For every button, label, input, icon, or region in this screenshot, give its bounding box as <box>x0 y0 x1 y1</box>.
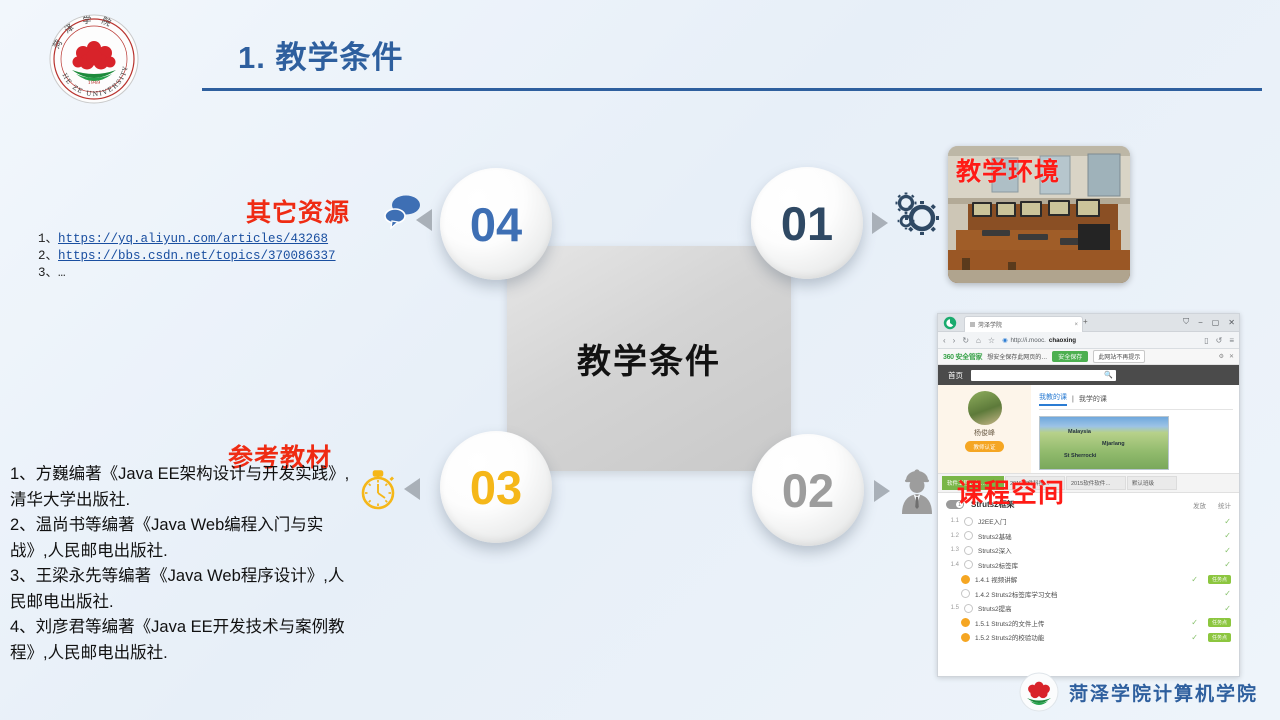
task-point-tag: 任务点 <box>1208 633 1231 642</box>
resource-link[interactable]: https://bbs.csdn.net/topics/370086337 <box>58 249 336 263</box>
security-save-button[interactable]: 安全保存 <box>1052 351 1088 362</box>
textbooks-list: 1、方巍编著《Java EE架构设计与开发实践》,清华大学出版社. 2、温尚书等… <box>10 462 350 666</box>
check-icon: ✓ <box>1191 633 1198 642</box>
footer-seal-icon <box>1018 671 1060 713</box>
user-badge: 教师认证 <box>965 441 1003 452</box>
center-panel-label: 教学条件 <box>507 246 791 471</box>
outline-no: 1.2 <box>946 533 959 539</box>
maximize-icon[interactable]: ▢ <box>1212 318 1220 327</box>
map-label: Malaysia <box>1068 429 1091 435</box>
outline-label: 1.4.1 视频讲解 <box>975 574 1017 584</box>
page-title: 1. 教学条件 <box>238 32 403 77</box>
outline-no: 1.1 <box>946 518 959 524</box>
course-tabs-panel: 我教的课 | 我学的课 Malaysia Mjarlang St Sherroc… <box>1031 385 1239 473</box>
security-notification-bar: 360 安全管家 想安全保存此网页的… 安全保存 此网站不再提示 ⚙ ✕ <box>938 349 1239 365</box>
outline-row[interactable]: 1.5 Struts2提高 ✓ <box>946 601 1231 616</box>
resource-index: 2、 <box>38 249 58 263</box>
outline-label: Struts2提高 <box>978 603 1012 613</box>
resource-item: 1、https://yq.aliyun.com/articles/43268 <box>38 231 383 248</box>
search-icon[interactable]: 🔍 <box>1104 371 1113 379</box>
window-controls: ⛉ − ▢ ✕ <box>1183 317 1235 327</box>
class-chip[interactable]: 默认班级 <box>1127 476 1177 490</box>
arrow-left-icon-03 <box>404 478 420 500</box>
outline-no: 1.5 <box>946 605 959 611</box>
task-point-tag: 任务点 <box>1208 575 1231 584</box>
gears-icon <box>893 190 941 238</box>
resource-item: 2、https://bbs.csdn.net/topics/370086337 <box>38 248 383 265</box>
browser-tab[interactable]: 菏泽学院 × <box>964 316 1083 332</box>
outline-status-dot <box>964 517 973 526</box>
person-icon <box>896 466 938 514</box>
resource-index: 1、 <box>38 232 58 246</box>
resource-link[interactable]: https://yq.aliyun.com/articles/43268 <box>58 232 328 246</box>
site-search-input[interactable]: 🔍 <box>971 370 1116 381</box>
browser-nav-bar: ‹ › ↻ ⌂ ☆ ◉ http://i.mooc.chaoxing ▯ ↺ ≡ <box>938 332 1239 349</box>
check-icon: ✓ <box>1224 546 1231 555</box>
resources-list: 1、https://yq.aliyun.com/articles/43268 2… <box>38 231 383 282</box>
outline-status-dot <box>961 575 970 584</box>
browser-tab-bar: 菏泽学院 × + ⛉ − ▢ ✕ <box>938 314 1239 332</box>
map-label: Mjarlang <box>1102 441 1125 447</box>
outline-row[interactable]: 1.4 Struts2标签库 ✓ <box>946 558 1231 573</box>
footer-brand: 菏泽学院计算机学院 <box>1018 671 1258 713</box>
node-circle-03[interactable]: 03 <box>440 431 552 543</box>
browser-logo-icon <box>941 315 960 330</box>
close-icon[interactable]: × <box>1074 322 1078 328</box>
title-underline <box>202 88 1262 91</box>
check-icon: ✓ <box>1191 618 1198 627</box>
address-bar[interactable]: ◉ http://i.mooc.chaoxing <box>1002 337 1197 344</box>
check-icon: ✓ <box>1191 575 1198 584</box>
outline-status-dot <box>961 589 970 598</box>
outline-row[interactable]: 1.1 J2EE入门 ✓ <box>946 514 1231 529</box>
bookmark-star-icon[interactable]: ☆ <box>988 336 995 345</box>
resource-item: 3、… <box>38 265 383 282</box>
outline-label: Struts2标签库 <box>978 560 1018 570</box>
security-brand-label: 360 安全管家 <box>943 352 982 362</box>
check-icon: ✓ <box>1224 531 1231 540</box>
column-stats: 统计 <box>1218 500 1231 510</box>
gear-icon[interactable]: ⚙ <box>1219 353 1224 360</box>
course-cover-map-image: Malaysia Mjarlang St Sherrocki <box>1039 416 1169 470</box>
textbook-item: 3、王梁永先等编著《Java Web程序设计》,人民邮电出版社. <box>10 564 350 615</box>
outline-label: Struts2基础 <box>978 531 1012 541</box>
reader-icon[interactable]: ▯ <box>1204 336 1208 345</box>
course-outline: 1 Struts2框架 发放 统计 1.1 J2EE入门 ✓ 1.2 Strut… <box>938 493 1239 645</box>
lab-photo-caption: 教学环境 <box>956 152 1060 188</box>
outline-label: 1.5.2 Struts2的校验功能 <box>975 632 1044 642</box>
security-message: 想安全保存此网页的… <box>987 352 1047 361</box>
outline-row[interactable]: 1.5.2 Struts2的校验功能 ✓ 任务点 <box>946 630 1231 645</box>
arrow-right-icon-01 <box>872 212 888 234</box>
user-panel: 杨俊峰 教师认证 <box>938 385 1031 473</box>
outline-status-dot <box>964 546 973 555</box>
browser-tab-title: 菏泽学院 <box>978 320 1002 329</box>
course-tabs: 我教的课 | 我学的课 <box>1039 392 1233 410</box>
globe-icon: ◉ <box>1002 337 1007 344</box>
outline-status-dot <box>964 604 973 613</box>
home-icon[interactable]: ⌂ <box>976 336 981 345</box>
tab-teaching[interactable]: 我教的课 <box>1039 392 1067 406</box>
site-body: 杨俊峰 教师认证 我教的课 | 我学的课 Malaysia Mjarlang S… <box>938 385 1239 473</box>
outline-status-dot <box>964 531 973 540</box>
outline-row[interactable]: 1.2 Struts2基础 ✓ <box>946 529 1231 544</box>
outline-label: Struts2深入 <box>978 545 1012 555</box>
check-icon: ✓ <box>1224 517 1231 526</box>
shield-icon[interactable]: ⛉ <box>1183 317 1189 327</box>
resources-heading: 其它资源 <box>246 193 350 229</box>
textbook-item: 4、刘彦君等编著《Java EE开发技术与案例教程》,人民邮电出版社. <box>10 615 350 666</box>
class-chip[interactable]: 2015软件软件… <box>1066 476 1126 490</box>
arrow-right-icon-02 <box>874 480 890 502</box>
outline-no: 1.3 <box>946 547 959 553</box>
check-icon: ✓ <box>1224 560 1231 569</box>
check-icon: ✓ <box>1224 604 1231 613</box>
svg-text:1949: 1949 <box>88 80 101 86</box>
node-circle-01[interactable]: 01 <box>751 167 863 279</box>
map-label: St Sherrocki <box>1064 453 1096 459</box>
close-window-icon[interactable]: ✕ <box>1228 318 1235 327</box>
history-icon[interactable]: ↺ <box>1216 336 1223 345</box>
course-space-caption: 课程空间 <box>957 473 1065 510</box>
resource-ellipsis: … <box>58 266 66 280</box>
university-seal-logo: 1949 HE ZE UNIVERSITY 菏泽学院 <box>30 12 158 107</box>
outline-no: 1.4 <box>946 562 959 568</box>
outline-label: 1.5.1 Struts2的文件上传 <box>975 618 1044 628</box>
security-dismiss-button[interactable]: 此网站不再提示 <box>1093 350 1145 363</box>
column-publish: 发放 <box>1193 500 1206 510</box>
outline-status-dot <box>964 560 973 569</box>
minimize-icon[interactable]: − <box>1198 318 1203 327</box>
menu-icon[interactable]: ≡ <box>1229 336 1234 345</box>
check-icon: ✓ <box>1224 589 1231 598</box>
avatar[interactable] <box>968 391 1002 425</box>
tab-divider: | <box>1072 396 1074 403</box>
stopwatch-icon <box>355 466 401 514</box>
footer-text: 菏泽学院计算机学院 <box>1069 679 1258 706</box>
close-bar-icon[interactable]: ✕ <box>1229 353 1234 360</box>
outline-row[interactable]: 1.4.2 Struts2标签库学习文档 ✓ <box>946 587 1231 602</box>
slide-root: 1949 HE ZE UNIVERSITY 菏泽学院 1. 教学条件 教学条件 … <box>0 0 1280 720</box>
user-name: 杨俊峰 <box>974 428 995 438</box>
outline-label: 1.4.2 Struts2标签库学习文档 <box>975 589 1057 599</box>
outline-row[interactable]: 1.4.1 视频讲解 ✓ 任务点 <box>946 572 1231 587</box>
task-point-tag: 任务点 <box>1208 618 1231 627</box>
forward-icon[interactable]: › <box>953 336 956 345</box>
node-circle-04[interactable]: 04 <box>440 168 552 280</box>
reload-icon[interactable]: ↻ <box>962 336 969 345</box>
textbook-item: 1、方巍编著《Java EE架构设计与开发实践》,清华大学出版社. <box>10 462 350 513</box>
outline-row[interactable]: 1.3 Struts2深入 ✓ <box>946 543 1231 558</box>
url-domain: chaoxing <box>1049 337 1076 344</box>
favicon-icon <box>970 322 975 327</box>
tab-learning[interactable]: 我学的课 <box>1079 394 1107 404</box>
speech-bubble-icon <box>380 190 424 234</box>
url-prefix: http://i.mooc. <box>1010 337 1045 344</box>
textbook-item: 2、温尚书等编著《Java Web编程入门与实战》,人民邮电出版社. <box>10 513 350 564</box>
resource-index: 3、 <box>38 266 58 280</box>
outline-row[interactable]: 1.5.1 Struts2的文件上传 ✓ 任务点 <box>946 616 1231 631</box>
back-icon[interactable]: ‹ <box>943 336 946 345</box>
outline-status-dot <box>961 618 970 627</box>
outline-label: J2EE入门 <box>978 516 1007 526</box>
site-header: 首页 🔍 <box>938 365 1239 385</box>
site-nav-home[interactable]: 首页 <box>948 370 963 381</box>
new-tab-button[interactable]: + <box>1083 317 1088 326</box>
node-circle-02[interactable]: 02 <box>752 434 864 546</box>
outline-status-dot <box>961 633 970 642</box>
